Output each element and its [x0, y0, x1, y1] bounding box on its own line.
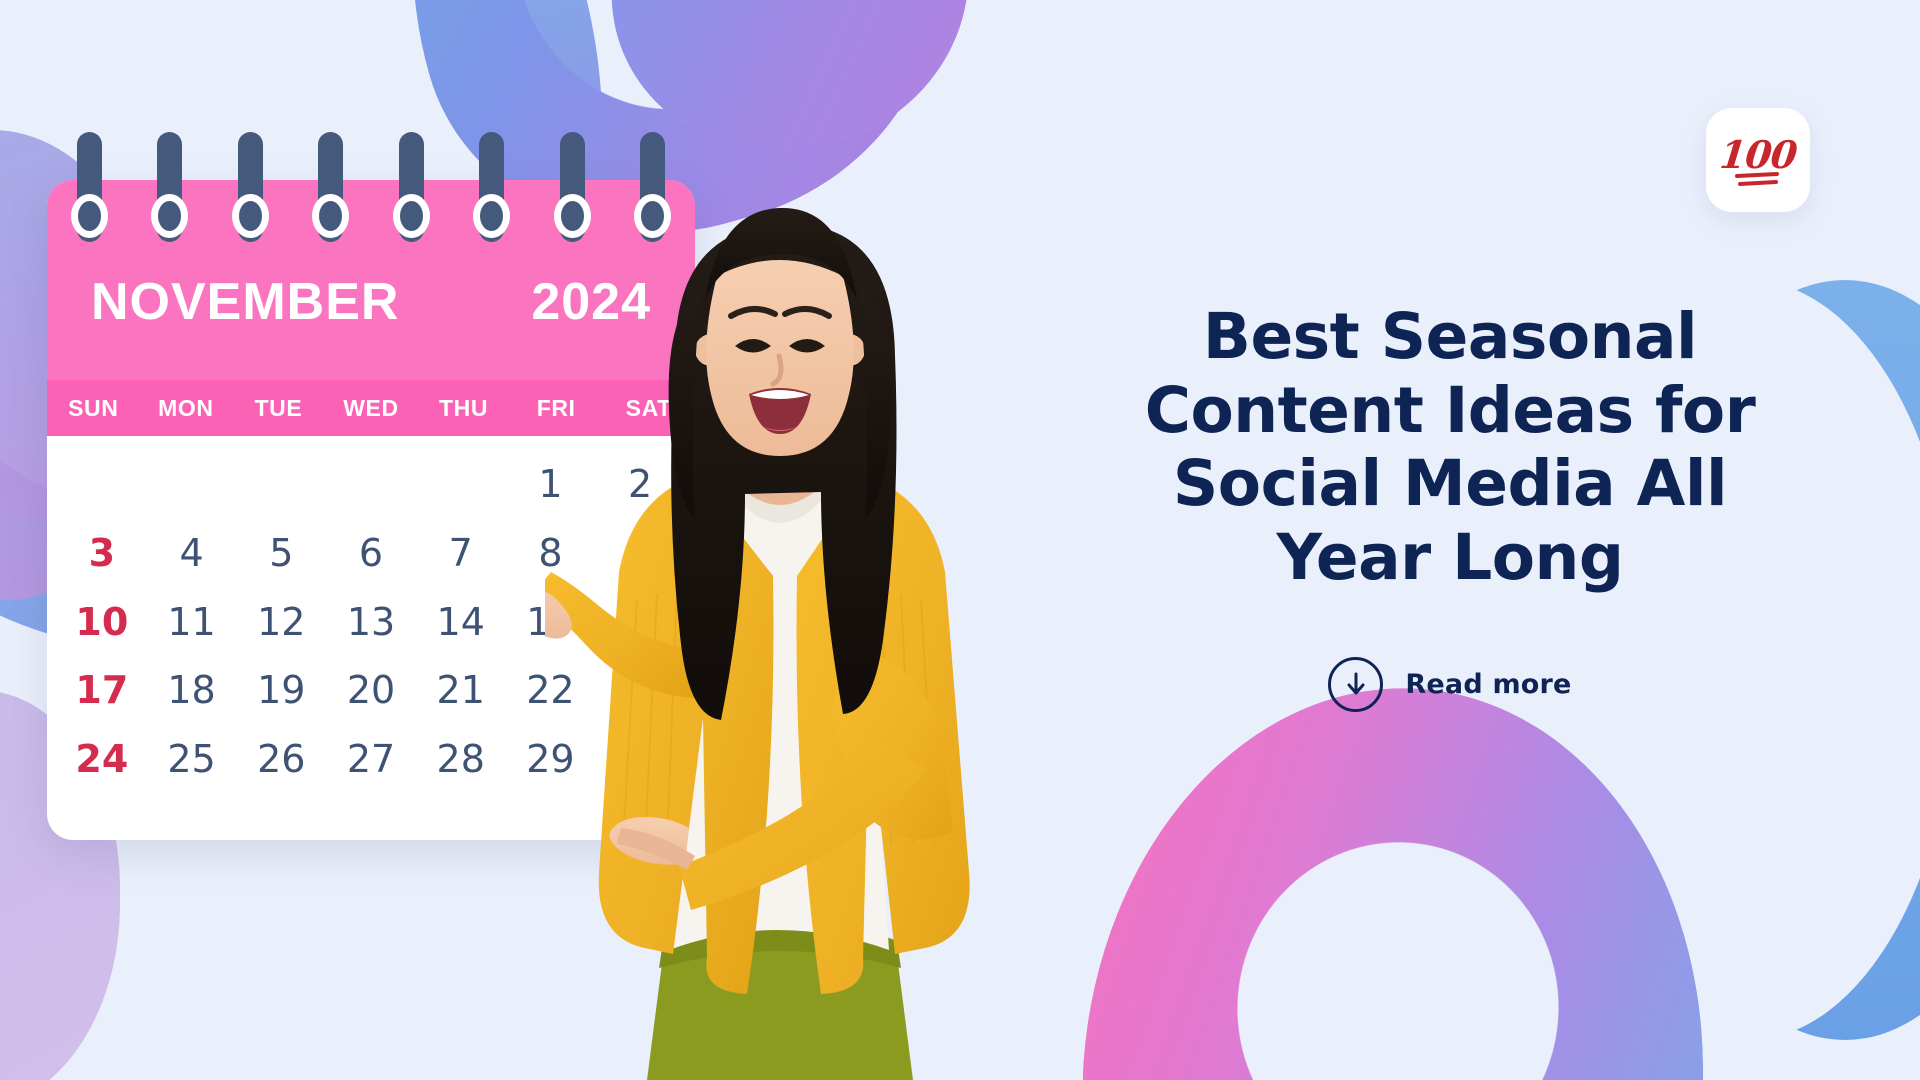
calendar-ring-hole	[232, 194, 269, 238]
calendar-ring-hole	[151, 194, 188, 238]
copy-column: Best SeasonalContent Ideas forSocial Med…	[1100, 300, 1800, 712]
calendar-day-25: 25	[147, 737, 237, 782]
calendar-day-7: 7	[416, 531, 506, 576]
calendar-day-13: 13	[326, 600, 416, 645]
calendar-weekday-thu: THU	[417, 395, 510, 422]
calendar-day-19: 19	[236, 668, 326, 713]
calendar-day-5: 5	[236, 531, 326, 576]
calendar-month-label: NOVEMBER	[91, 276, 399, 328]
calendar-weekday-sun: SUN	[47, 395, 140, 422]
calendar-day-empty	[147, 462, 237, 507]
smiling-woman-pointing-photo	[545, 180, 1015, 1080]
calendar-day-empty	[416, 462, 506, 507]
calendar-day-17: 17	[57, 668, 147, 713]
arrow-down-circle-icon	[1328, 657, 1383, 712]
calendar-ring-hole	[312, 194, 349, 238]
hundred-points-emoji-logo[interactable]: 100	[1706, 108, 1810, 212]
calendar-day-6: 6	[326, 531, 416, 576]
decorative-blob-bottom-right-arch	[1066, 667, 1729, 1080]
calendar-day-empty	[326, 462, 416, 507]
calendar-day-24: 24	[57, 737, 147, 782]
calendar-day-empty	[57, 462, 147, 507]
calendar-day-10: 10	[57, 600, 147, 645]
calendar-weekday-mon: MON	[140, 395, 233, 422]
calendar-day-20: 20	[326, 668, 416, 713]
calendar-day-27: 27	[326, 737, 416, 782]
calendar-ring-hole	[473, 194, 510, 238]
calendar-day-26: 26	[236, 737, 326, 782]
read-more-label: Read more	[1405, 669, 1571, 700]
calendar-day-18: 18	[147, 668, 237, 713]
read-more-button[interactable]: Read more	[1100, 657, 1800, 712]
calendar-day-28: 28	[416, 737, 506, 782]
calendar-day-21: 21	[416, 668, 506, 713]
page-title: Best SeasonalContent Ideas forSocial Med…	[1100, 300, 1800, 595]
calendar-ring-hole	[71, 194, 108, 238]
page-title-line-3: Social Media All	[1100, 447, 1800, 521]
page-title-line-2: Content Ideas for	[1100, 374, 1800, 448]
hundred-points-underlines	[1735, 169, 1781, 185]
calendar-day-14: 14	[416, 600, 506, 645]
calendar-day-11: 11	[147, 600, 237, 645]
calendar-day-empty	[236, 462, 326, 507]
calendar-weekday-tue: TUE	[232, 395, 325, 422]
calendar-day-3: 3	[57, 531, 147, 576]
banner-canvas: NOVEMBER 2024 SUNMONTUEWEDTHUFRISAT 1234…	[0, 0, 1920, 1080]
calendar-weekday-wed: WED	[325, 395, 418, 422]
page-title-line-1: Best Seasonal	[1100, 300, 1800, 374]
calendar-day-4: 4	[147, 531, 237, 576]
calendar-ring-hole	[393, 194, 430, 238]
calendar-day-12: 12	[236, 600, 326, 645]
page-title-line-4: Year Long	[1100, 521, 1800, 595]
